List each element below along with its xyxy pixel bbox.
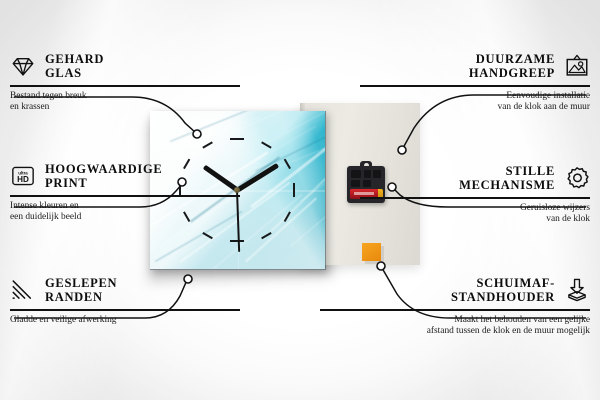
feature-geslepen-randen: GESLEPEN RANDEN Gladde en veilige afwerk… bbox=[10, 276, 240, 326]
feature-title: GEHARD GLAS bbox=[45, 52, 104, 80]
feature-title: DUURZAME HANDGREEP bbox=[469, 52, 555, 80]
feature-description: Maakt het behouden van een gelijke afsta… bbox=[320, 315, 590, 338]
gear-icon bbox=[564, 165, 590, 191]
bevelled-edges-icon bbox=[10, 277, 36, 303]
feature-divider bbox=[320, 309, 590, 311]
diamond-icon bbox=[10, 53, 36, 79]
feature-stille-mechanisme: STILLE MECHANISME Geruisloze wijzers van… bbox=[360, 164, 590, 225]
feature-duurzame-handgreep: DUURZAME HANDGREEP Eenvoudige installati… bbox=[360, 52, 590, 113]
feature-title: HOOGWAARDIGE PRINT bbox=[45, 162, 162, 190]
feature-divider bbox=[360, 85, 590, 87]
feature-divider bbox=[10, 309, 240, 311]
infographic-canvas: GEHARD GLAS Bestand tegen breuk en krass… bbox=[0, 0, 600, 400]
feature-header-stille-mechanisme: STILLE MECHANISME bbox=[360, 164, 590, 192]
feature-description: Bestand tegen breuk en krassen bbox=[10, 91, 240, 114]
feature-header-hoogwaardige-print: ultra HD HOOGWAARDIGE PRINT bbox=[10, 162, 240, 190]
foam-spacer[interactable] bbox=[362, 243, 381, 261]
feature-title: GESLEPEN RANDEN bbox=[45, 276, 117, 304]
feature-schuimafstandhouder: SCHUIMAF- STANDHOUDER Maakt het behouden… bbox=[320, 276, 590, 337]
feature-title: STILLE MECHANISME bbox=[459, 164, 555, 192]
press-down-icon bbox=[564, 277, 590, 303]
feature-description: Gladde en veilige afwerking bbox=[10, 315, 240, 326]
feature-header-duurzame-handgreep: DUURZAME HANDGREEP bbox=[360, 52, 590, 80]
feature-description: Intense kleuren en een duidelijk beeld bbox=[10, 201, 240, 224]
feature-header-gehard-glas: GEHARD GLAS bbox=[10, 52, 240, 80]
feature-description: Eenvoudige installatie van de klok aan d… bbox=[360, 91, 590, 114]
feature-divider bbox=[10, 85, 240, 87]
picture-frame-icon bbox=[564, 53, 590, 79]
mechanism-port-d bbox=[351, 180, 360, 187]
feature-hoogwaardige-print: ultra HD HOOGWAARDIGE PRINT Intense kleu… bbox=[10, 162, 240, 223]
feature-header-geslepen-randen: GESLEPEN RANDEN bbox=[10, 276, 240, 304]
feature-header-schuimafstandhouder: SCHUIMAF- STANDHOUDER bbox=[320, 276, 590, 304]
feature-gehard-glas: GEHARD GLAS Bestand tegen breuk en krass… bbox=[10, 52, 240, 113]
feature-title: SCHUIMAF- STANDHOUDER bbox=[451, 276, 555, 304]
svg-text:HD: HD bbox=[17, 175, 29, 184]
feature-divider bbox=[10, 195, 240, 197]
feature-divider bbox=[360, 197, 590, 199]
ultra-hd-icon: ultra HD bbox=[10, 163, 36, 189]
feature-description: Geruisloze wijzers van de klok bbox=[360, 203, 590, 226]
